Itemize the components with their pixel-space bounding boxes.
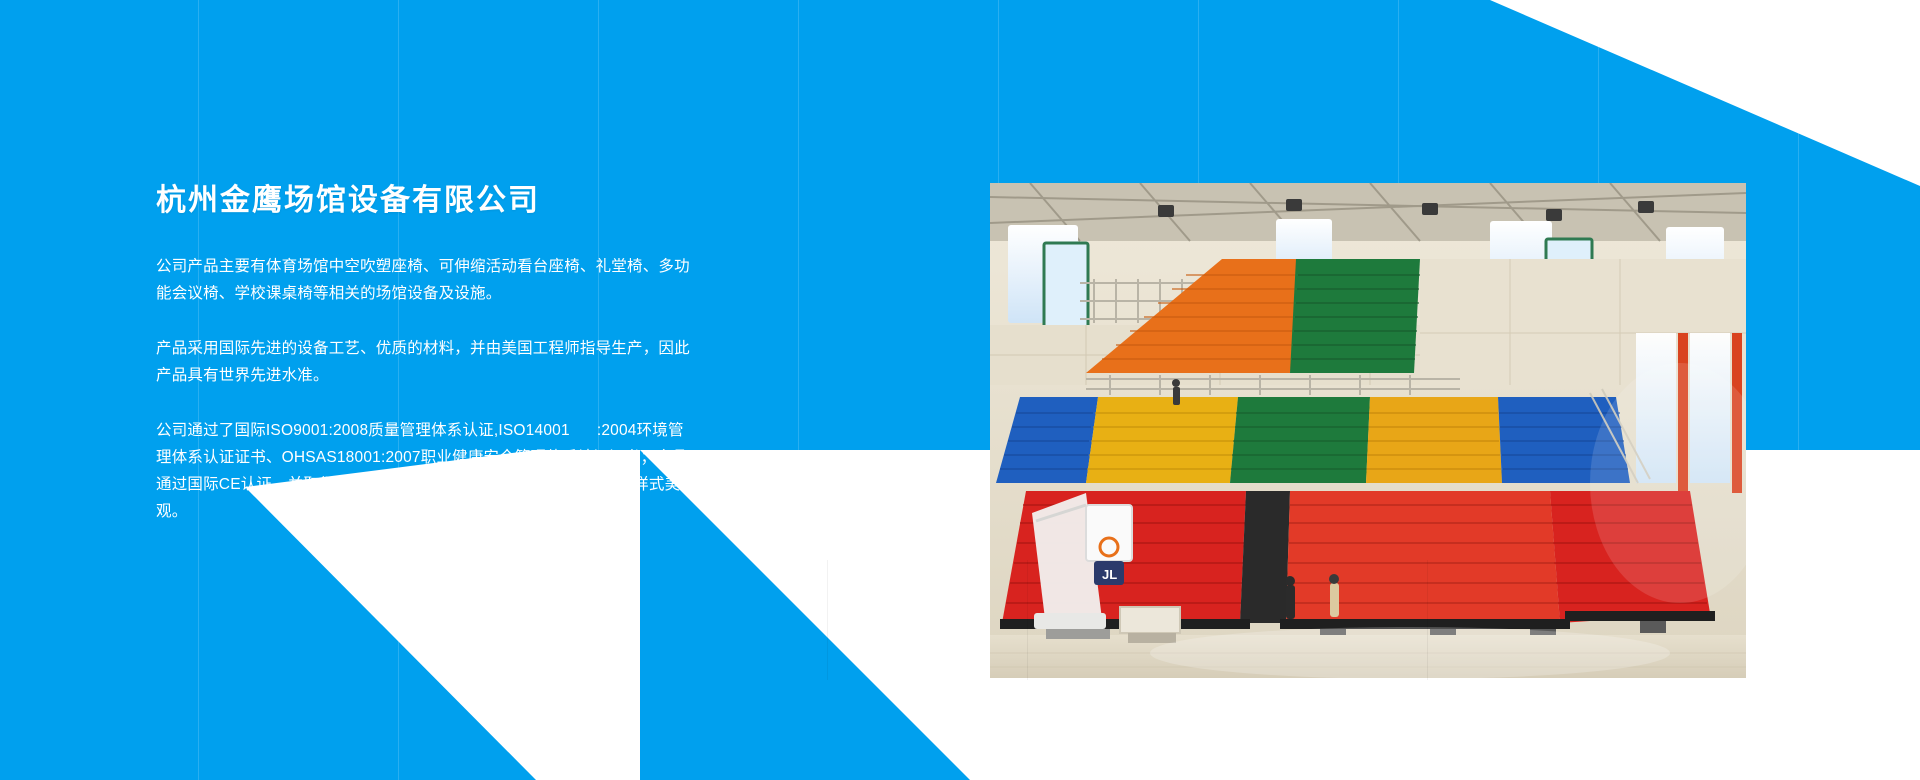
panel-seam-right — [1427, 560, 1428, 680]
gymnasium-photo: JL — [990, 183, 1746, 678]
hero-copy-block: 杭州金鹰场馆设备有限公司 公司产品主要有体育场馆中空吹塑座椅、可伸缩活动看台座椅… — [156, 183, 696, 525]
hero-paragraph-technology: 产品采用国际先进的设备工艺、优质的材料，并由美国工程师指导生产，因此产品具有世界… — [156, 335, 696, 389]
gymnasium-illustration: JL — [990, 183, 1746, 678]
hero-paragraph-products: 公司产品主要有体育场馆中空吹塑座椅、可伸缩活动看台座椅、礼堂椅、多功能会议椅、学… — [156, 253, 696, 307]
hero-paragraph-certifications: 公司通过了国际ISO9001:2008质量管理体系认证,ISO14001 :20… — [156, 417, 696, 525]
page-title: 杭州金鹰场馆设备有限公司 — [156, 183, 696, 219]
svg-text:JL: JL — [1102, 567, 1117, 582]
hero-banner: 杭州金鹰场馆设备有限公司 公司产品主要有体育场馆中空吹塑座椅、可伸缩活动看台座椅… — [0, 0, 1920, 780]
panel-seam-left — [827, 560, 828, 680]
panel-seam-mid — [1027, 560, 1028, 680]
